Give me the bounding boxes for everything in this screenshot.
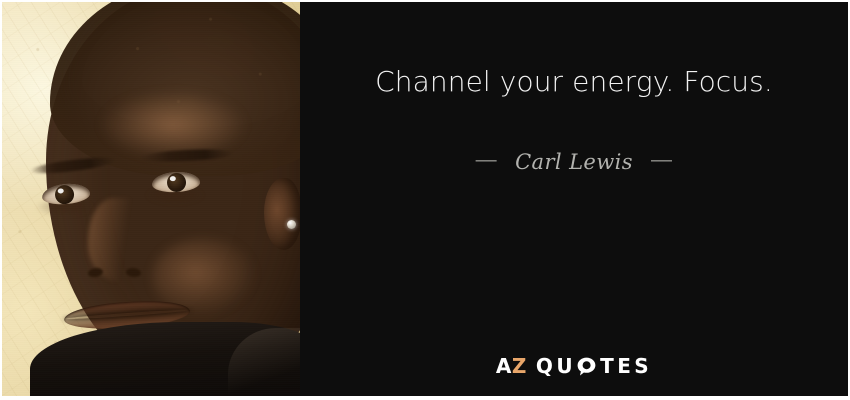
- quote-attribution: — Carl Lewis —: [300, 150, 848, 175]
- quote-panel: Channel your energy. Focus. — Carl Lewis…: [300, 2, 848, 398]
- attribution-dash-left: —: [476, 148, 497, 172]
- logo-letter-a: A: [496, 354, 512, 378]
- attribution-author-name: Carl Lewis: [515, 150, 633, 174]
- attribution-dash-right: —: [651, 148, 672, 172]
- quote-card: Channel your energy. Focus. — Carl Lewis…: [0, 0, 850, 400]
- logo-quotes-prefix: QU: [536, 356, 576, 376]
- logo-az-mark: AZ: [496, 356, 527, 376]
- azquotes-logo[interactable]: AZ QU TES: [300, 356, 848, 376]
- portrait-iris-left: [54, 184, 75, 205]
- portrait-earring-stud: [287, 220, 296, 229]
- speech-bubble-icon: [577, 357, 596, 376]
- quote-text: Channel your energy. Focus.: [300, 64, 848, 101]
- logo-quotes-wordmark: QU TES: [536, 356, 652, 376]
- logo-letter-z: Z: [512, 354, 527, 378]
- portrait-iris-right: [167, 172, 187, 192]
- bottom-divider-rule: [2, 396, 848, 398]
- portrait-ear: [264, 178, 300, 250]
- logo-quotes-suffix: TES: [600, 356, 652, 376]
- author-portrait-photo: [2, 2, 300, 398]
- portrait-shirt-sheen: [228, 328, 300, 394]
